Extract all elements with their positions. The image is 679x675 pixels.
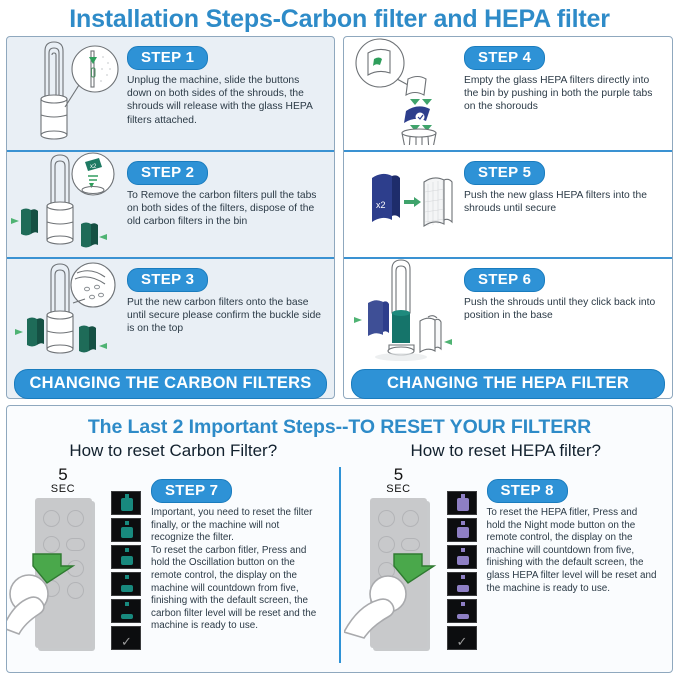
filter-tab-icon: [461, 548, 465, 552]
carbon-filter-banner: CHANGING THE CARBON FILTERS: [14, 369, 327, 399]
hepa-display-screens: ✓: [447, 467, 481, 663]
timer-button-icon: [378, 536, 395, 553]
filter-tab-icon: [461, 602, 465, 606]
display-screen-4: [447, 572, 477, 596]
step-row-3: STEP 3 Put the new carbon filters onto t…: [7, 257, 334, 369]
hepa-filter-icon: [457, 585, 469, 592]
hepa-hold-seconds: 5: [357, 467, 441, 483]
step-row-4: STEP 4 Empty the glass HEPA filters dire…: [344, 37, 672, 150]
hepa-filter-icon: [457, 614, 469, 619]
step-1-badge: STEP 1: [127, 46, 208, 70]
step-7-badge: STEP 7: [151, 479, 232, 503]
step-6-illustration: [344, 259, 462, 369]
reset-section-title: The Last 2 Important Steps--TO RESET YOU…: [7, 406, 672, 439]
carbon-filter-icon: [121, 614, 133, 619]
step-8-text-block: STEP 8 To reset the HEPA fitler, Press a…: [481, 467, 673, 663]
display-screen-2: [447, 518, 477, 542]
step-4-description: Empty the glass HEPA filters directly in…: [464, 74, 664, 114]
step-2-badge: STEP 2: [127, 161, 208, 185]
carbon-filter-panel: STEP 1 Unplug the machine, slide the but…: [6, 36, 335, 399]
step-4-badge: STEP 4: [464, 46, 545, 70]
step-7-description: Important, you need to reset the filter …: [151, 507, 327, 633]
reset-divider: [339, 467, 341, 663]
speed-up-button-icon: [67, 510, 84, 527]
step-row-2: x2 STEP 2 To Remove the carbon filters: [7, 150, 334, 257]
carbon-reset-half: 5 SEC: [7, 467, 337, 663]
hepa-reset-question: How to reset HEPA filter?: [340, 441, 673, 461]
step-2-illustration: x2: [7, 152, 125, 257]
step-3-text-block: STEP 3 Put the new carbon filters onto t…: [125, 259, 334, 369]
display-screen-3: [111, 545, 141, 569]
hepa-filter-icon: [457, 498, 469, 511]
filter-tab-icon: [461, 521, 465, 525]
power-button-icon: [378, 510, 395, 527]
step-5-illustration: x2: [344, 152, 462, 257]
display-screen-1: [447, 491, 477, 515]
display-screen-5: [111, 599, 141, 623]
carbon-filter-icon: [121, 585, 133, 592]
step-2-description: To Remove the carbon filters pull the ta…: [127, 189, 326, 229]
carbon-remote-body: [35, 498, 92, 648]
carbon-hold-seconds: 5: [21, 467, 105, 483]
filter-tab-icon: [125, 575, 129, 579]
step-1-illustration: [7, 37, 125, 150]
step-8-description: To reset the HEPA fitler, Press and hold…: [487, 507, 663, 595]
hepa-filter-banner: CHANGING THE HEPA FILTER: [351, 369, 665, 399]
filter-tab-icon: [125, 548, 129, 552]
step-row-6: STEP 6 Push the shrouds until they click…: [344, 257, 672, 369]
hand-icon: [344, 574, 424, 644]
step-8-badge: STEP 8: [487, 479, 568, 503]
step-1-description: Unplug the machine, slide the buttons do…: [127, 74, 326, 127]
carbon-filter-icon: [121, 498, 133, 511]
display-screen-3: [447, 545, 477, 569]
carbon-remote-illustration: 5 SEC: [21, 467, 105, 663]
hepa-filter-panel: STEP 4 Empty the glass HEPA filters dire…: [343, 36, 673, 399]
checkmark-icon: ✓: [457, 634, 468, 650]
power-button-icon: [43, 510, 60, 527]
display-screen-2: [111, 518, 141, 542]
step-6-text-block: STEP 6 Push the shrouds until they click…: [462, 259, 672, 369]
filter-tab-icon: [125, 521, 129, 525]
reset-halves: 5 SEC: [7, 467, 672, 663]
step-5-badge: STEP 5: [464, 161, 545, 185]
hepa-filter-icon: [457, 527, 469, 538]
carbon-filter-icon: [121, 527, 133, 538]
step-5-description: Push the new glass HEPA filters into the…: [464, 189, 664, 215]
step-7-text-block: STEP 7 Important, you need to reset the …: [145, 467, 337, 663]
display-screen-5: [447, 599, 477, 623]
filter-tab-icon: [125, 602, 129, 606]
top-sections: STEP 1 Unplug the machine, slide the but…: [0, 34, 679, 399]
reset-section: The Last 2 Important Steps--TO RESET YOU…: [6, 405, 673, 673]
carbon-reset-question: How to reset Carbon Filter?: [7, 441, 340, 461]
step-row-1: STEP 1 Unplug the machine, slide the but…: [7, 37, 334, 150]
page-title: Installation Steps-Carbon filter and HEP…: [0, 0, 679, 34]
carbon-hold-unit: SEC: [21, 483, 105, 495]
display-screen-complete: ✓: [447, 626, 477, 650]
step-5-text-block: STEP 5 Push the new glass HEPA filters i…: [462, 152, 672, 257]
hepa-filter-icon: [457, 556, 469, 565]
hepa-remote-body: [370, 498, 427, 648]
display-screen-4: [111, 572, 141, 596]
checkmark-icon: ✓: [121, 634, 132, 650]
hepa-hold-unit: SEC: [357, 483, 441, 495]
mode-button-icon: [401, 538, 420, 551]
timer-button-icon: [43, 536, 60, 553]
carbon-filter-icon: [121, 556, 133, 565]
svg-text:x2: x2: [90, 164, 97, 170]
filter-tab-icon: [461, 575, 465, 579]
mode-button-icon: [66, 538, 85, 551]
hand-icon: [6, 572, 73, 642]
speed-up-button-icon: [402, 510, 419, 527]
hepa-remote-illustration: 5 SEC: [357, 467, 441, 663]
display-screen-1: [111, 491, 141, 515]
step-2-text-block: STEP 2 To Remove the carbon filters pull…: [125, 152, 334, 257]
step-row-5: x2 STEP 5 Push the new glass: [344, 150, 672, 257]
step-6-description: Push the shrouds until they click back i…: [464, 296, 664, 322]
step-3-badge: STEP 3: [127, 268, 208, 292]
step-3-description: Put the new carbon filters onto the base…: [127, 296, 326, 336]
svg-text:x2: x2: [376, 200, 386, 210]
step-3-illustration: [7, 259, 125, 369]
step-1-text-block: STEP 1 Unplug the machine, slide the but…: [125, 37, 334, 150]
carbon-display-screens: ✓: [111, 467, 145, 663]
reset-questions: How to reset Carbon Filter? How to reset…: [7, 441, 672, 461]
step-4-illustration: [344, 37, 462, 150]
display-screen-complete: ✓: [111, 626, 141, 650]
step-4-text-block: STEP 4 Empty the glass HEPA filters dire…: [462, 37, 672, 150]
hepa-reset-half: 5 SEC: [343, 467, 673, 663]
step-6-badge: STEP 6: [464, 268, 545, 292]
